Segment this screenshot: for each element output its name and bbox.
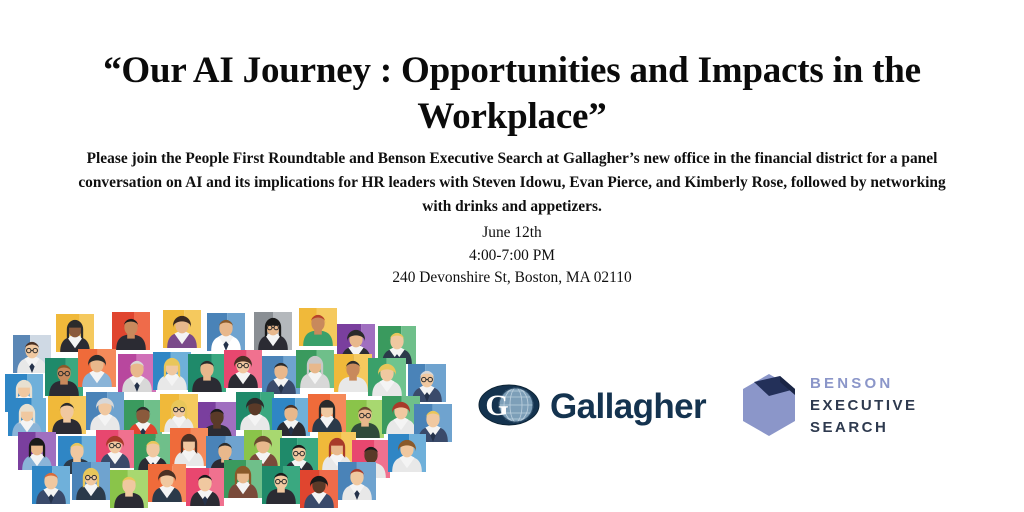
avatar-tile [153, 352, 191, 390]
avatar-tile [300, 470, 338, 508]
description-line-1: Please join the People First Roundtable … [87, 150, 751, 167]
avatar-tile [118, 354, 156, 392]
avatar-tile [56, 314, 94, 352]
gallagher-logo: G Gallagher [478, 381, 706, 431]
avatar-tile [296, 350, 334, 388]
avatar-tile [148, 464, 186, 502]
avatar-tile [262, 356, 300, 394]
title-line-2: Workplace” [86, 94, 938, 140]
gallagher-wordmark: Gallagher [550, 389, 706, 424]
avatar-tile [254, 312, 292, 350]
avatar-tile [112, 312, 150, 350]
benson-name: BENSON [810, 373, 992, 395]
avatar-tile [78, 349, 116, 387]
avatar-tile [18, 432, 56, 470]
avatar-tile [207, 313, 245, 351]
gallagher-globe-icon: G [478, 384, 540, 428]
avatar-tile [48, 396, 86, 434]
avatar-tile [160, 394, 198, 432]
avatar-tile [86, 392, 124, 430]
avatar-tile [170, 428, 208, 466]
avatar-tile [334, 354, 372, 392]
avatar-tile [186, 468, 224, 506]
avatar-tile [262, 466, 300, 504]
avatar-tile [72, 462, 110, 500]
avatar-tile [224, 460, 262, 498]
event-date: June 12th [78, 222, 946, 245]
avatar-tile [8, 398, 46, 436]
event-description: Please join the People First Roundtable … [78, 147, 946, 219]
avatar-tile [45, 358, 83, 396]
event-details: June 12th 4:00-7:00 PM 240 Devonshire St… [78, 222, 946, 290]
people-avatars-collage [0, 296, 460, 512]
event-time: 4:00-7:00 PM [78, 245, 946, 268]
avatar-tile [388, 434, 426, 472]
avatar-tile [308, 394, 346, 432]
title-line-1: “Our AI Journey : Opportunities and Impa… [86, 48, 938, 94]
avatar-tile [338, 462, 376, 500]
avatar-tile [163, 310, 201, 348]
benson-tagline: EXECUTIVE SEARCH [810, 395, 992, 439]
avatar-tile [299, 308, 337, 346]
benson-text-block: BENSON EXECUTIVE SEARCH [810, 371, 992, 439]
page-title: “Our AI Journey : Opportunities and Impa… [86, 48, 938, 140]
avatar-tile [110, 470, 148, 508]
avatar-tile [32, 466, 70, 504]
benson-hexagon-icon [740, 373, 798, 437]
benson-executive-search-logo: BENSON EXECUTIVE SEARCH [740, 372, 992, 438]
avatar-tile [188, 354, 226, 392]
avatar-tile [224, 350, 262, 388]
event-address: 240 Devonshire St, Boston, MA 02110 [78, 267, 946, 290]
avatar-tile [236, 392, 274, 430]
avatar-tile [368, 358, 406, 396]
gallagher-g-letter: G [485, 389, 508, 422]
